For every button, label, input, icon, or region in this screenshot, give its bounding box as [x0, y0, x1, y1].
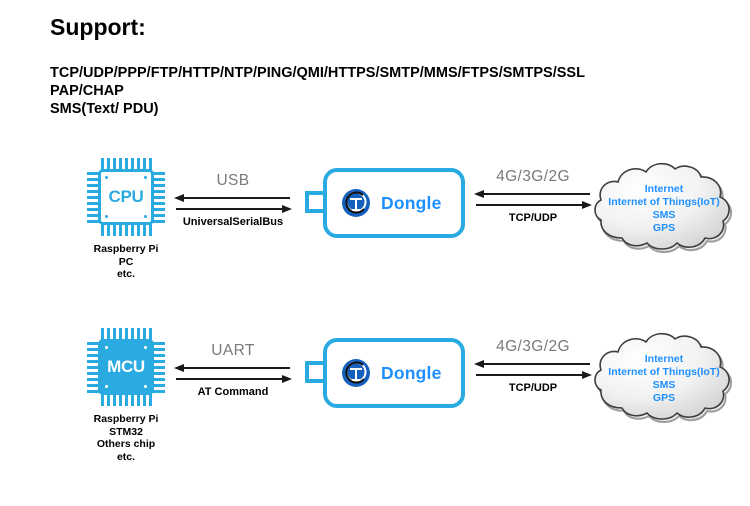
cloud-group-1: Internet Internet of Things(IoT) SMS GPS	[588, 156, 740, 256]
cloud-line: GPS	[588, 222, 740, 235]
dongle-device-usb: Dongle	[305, 168, 465, 238]
cloud-line: Internet	[588, 353, 740, 366]
mcu-chip-icon: MCU	[87, 328, 165, 406]
at-sign-circle-icon	[341, 358, 371, 388]
supported-protocols-list: TCP/UDP/PPP/FTP/HTTP/NTP/PING/QMI/HTTPS/…	[50, 64, 585, 118]
protocol-line: SMS(Text/ PDU)	[50, 100, 585, 118]
chip-label: MCU	[101, 342, 151, 392]
link-bottom-label: TCP/UDP	[473, 382, 593, 394]
chip-group-mcu: MCU Raspberry Pi STM32 Others chip etc.	[78, 320, 174, 463]
flow-row-uart: MCU Raspberry Pi STM32 Others chip etc. …	[0, 320, 750, 490]
chip-group-cpu: CPU Raspberry Pi PC etc.	[78, 150, 174, 281]
cloud-line: Internet of Things(IoT)	[588, 366, 740, 379]
chip-body: CPU	[98, 169, 154, 225]
cloud-services-text: Internet Internet of Things(IoT) SMS GPS	[588, 183, 740, 235]
protocol-line: PAP/CHAP	[50, 82, 585, 100]
chip-label: CPU	[101, 172, 151, 222]
caption-line: etc.	[78, 451, 174, 464]
link-cellular-1: 4G/3G/2G TCP/UDP	[473, 168, 593, 224]
caption-line: STM32	[78, 426, 174, 439]
protocol-line: TCP/UDP/PPP/FTP/HTTP/NTP/PING/QMI/HTTPS/…	[50, 64, 585, 82]
link-usb: USB UniversalSerialBus	[173, 172, 293, 228]
caption-line: etc.	[78, 268, 174, 281]
chip-caption: Raspberry Pi PC etc.	[78, 243, 174, 281]
caption-line: PC	[78, 256, 174, 269]
link-bottom-label: AT Command	[173, 386, 293, 398]
dongle-body: Dongle	[323, 338, 465, 408]
flow-row-usb: CPU Raspberry Pi PC etc. USB UniversalSe…	[0, 150, 750, 320]
cloud-services-text: Internet Internet of Things(IoT) SMS GPS	[588, 353, 740, 405]
cpu-chip-icon: CPU	[87, 158, 165, 236]
cloud-line: Internet	[588, 183, 740, 196]
cloud-line: GPS	[588, 392, 740, 405]
dongle-body: Dongle	[323, 168, 465, 238]
caption-line: Others chip	[78, 438, 174, 451]
caption-line: Raspberry Pi	[78, 243, 174, 256]
dongle-device-uart: Dongle	[305, 338, 465, 408]
bidirectional-arrow-icon	[174, 363, 292, 385]
bidirectional-arrow-icon	[474, 189, 592, 211]
bidirectional-arrow-icon	[474, 359, 592, 381]
link-top-label: USB	[173, 172, 293, 190]
cloud-group-2: Internet Internet of Things(IoT) SMS GPS	[588, 326, 740, 426]
link-uart: UART AT Command	[173, 342, 293, 398]
cloud-line: SMS	[588, 209, 740, 222]
chip-caption: Raspberry Pi STM32 Others chip etc.	[78, 413, 174, 463]
at-sign-circle-icon	[341, 188, 371, 218]
chip-body: MCU	[98, 339, 154, 395]
dongle-label: Dongle	[381, 363, 442, 384]
link-bottom-label: TCP/UDP	[473, 212, 593, 224]
link-cellular-2: 4G/3G/2G TCP/UDP	[473, 338, 593, 394]
page-title: Support:	[50, 14, 146, 41]
link-bottom-label: UniversalSerialBus	[173, 216, 293, 228]
link-top-label: 4G/3G/2G	[473, 338, 593, 356]
cloud-line: Internet of Things(IoT)	[588, 196, 740, 209]
cloud-line: SMS	[588, 379, 740, 392]
dongle-label: Dongle	[381, 193, 442, 214]
caption-line: Raspberry Pi	[78, 413, 174, 426]
bidirectional-arrow-icon	[174, 193, 292, 215]
link-top-label: UART	[173, 342, 293, 360]
link-top-label: 4G/3G/2G	[473, 168, 593, 186]
